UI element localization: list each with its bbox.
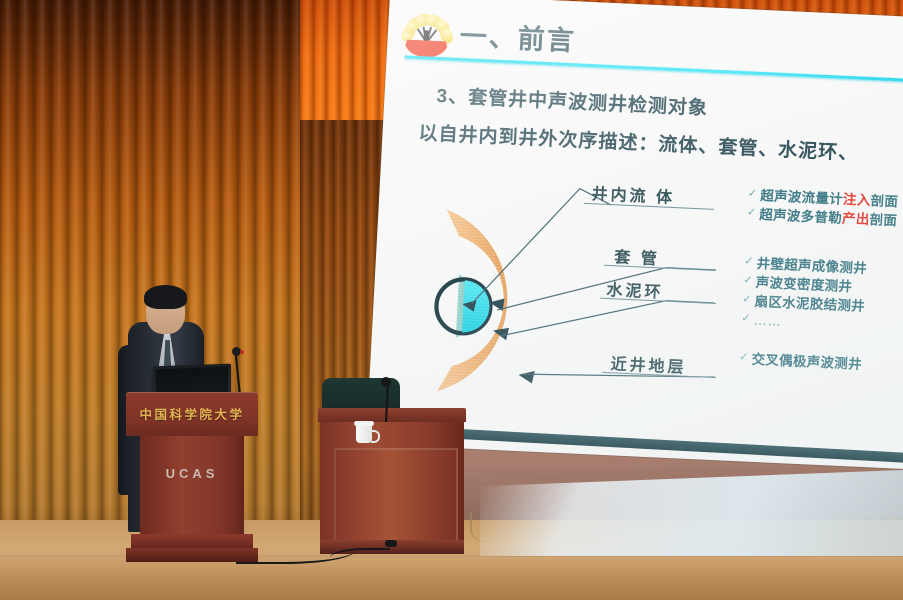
teacup-lid bbox=[354, 421, 374, 426]
desk-top bbox=[318, 408, 466, 422]
floor-cable-2 bbox=[330, 548, 390, 564]
bullet-text: 交叉偶极声波测井 bbox=[751, 350, 862, 374]
bullet-highlight: 注入 bbox=[843, 192, 871, 208]
desk-front bbox=[320, 422, 464, 540]
podium-english-label: UCAS bbox=[126, 466, 258, 481]
label-rule-casing bbox=[604, 265, 716, 271]
check-icon: ✓ bbox=[741, 311, 751, 329]
desk-microphone-head bbox=[381, 377, 391, 387]
floor-cable-3 bbox=[470, 512, 512, 542]
bullet-group-fluid-methods: ✓超声波流量计注入剖面✓超声波多普勒产出剖面 bbox=[746, 185, 898, 230]
title-underline bbox=[405, 55, 903, 82]
check-icon: ✓ bbox=[744, 253, 754, 271]
check-icon: ✓ bbox=[746, 205, 756, 223]
desk-panel bbox=[334, 448, 458, 544]
podium-top-panel: 中国科学院大学 bbox=[126, 392, 258, 436]
podium-microphone-light bbox=[240, 350, 244, 354]
slide-heading: 3、套管井中声波测井检测对象 bbox=[436, 81, 709, 121]
bullet-highlight: 产出 bbox=[842, 211, 870, 227]
lecture-hall-photo: 一、前言 3、套管井中声波测井检测对象 以自井内到井外次序描述：流体、套管、水泥… bbox=[0, 0, 903, 600]
podium-chinese-label: 中国科学院大学 bbox=[126, 404, 258, 423]
projection-screen: 一、前言 3、套管井中声波测井检测对象 以自井内到井外次序描述：流体、套管、水泥… bbox=[366, 0, 903, 469]
teacup bbox=[356, 425, 372, 443]
speaker-hair bbox=[144, 285, 187, 309]
bullet-item: ✓交叉偶极声波测井 bbox=[739, 349, 863, 374]
slide-title: 一、前言 bbox=[459, 14, 577, 58]
check-icon: ✓ bbox=[742, 292, 752, 310]
check-icon: ✓ bbox=[747, 185, 757, 203]
slide-subheading: 以自井内到井外次序描述：流体、套管、水泥环、 bbox=[418, 118, 859, 165]
podium: 中国科学院大学 UCAS bbox=[126, 392, 258, 564]
podium-column bbox=[140, 436, 244, 534]
presentation-slide: 一、前言 3、套管井中声波测井检测对象 以自井内到井外次序描述：流体、套管、水泥… bbox=[366, 0, 903, 469]
check-icon: ✓ bbox=[739, 349, 749, 367]
check-icon: ✓ bbox=[743, 272, 753, 290]
side-desk bbox=[318, 408, 466, 560]
bullet-text: …… bbox=[753, 311, 782, 331]
petrochina-logo-icon bbox=[399, 15, 455, 59]
bullet-group-casing-cement-methods: ✓井壁超声成像测井✓声波变密度测井✓扇区水泥胶结测井✓…… bbox=[741, 253, 868, 335]
floor-socket bbox=[385, 540, 397, 547]
bullet-group-formation-methods: ✓交叉偶极声波测井 bbox=[739, 349, 863, 374]
wellbore-cross-section-diagram bbox=[398, 194, 609, 413]
